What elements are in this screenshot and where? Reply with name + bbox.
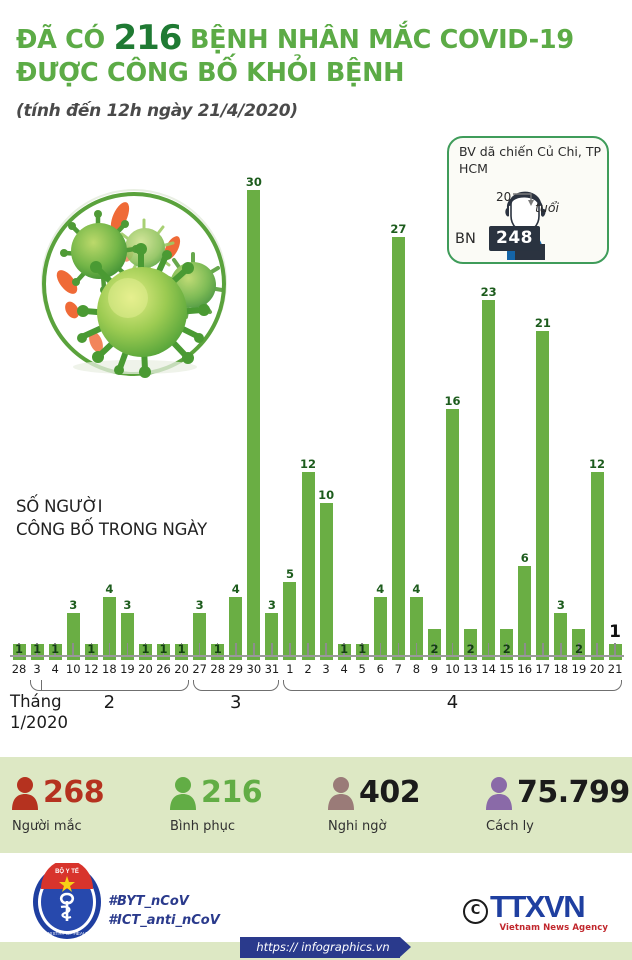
axis-day-label: 6 — [371, 662, 389, 676]
axis-day-label: 1 — [281, 662, 299, 676]
bar-value-label: 10 — [318, 490, 334, 502]
chart-bar-group: 1 — [353, 160, 371, 660]
axis-day-label: 21 — [606, 662, 624, 676]
bar-value-label: 12 — [589, 459, 605, 471]
axis-day-label: 18 — [100, 662, 118, 676]
chart-bar — [482, 300, 495, 660]
hashtag-ict: #ICT_anti_nCoV — [108, 912, 220, 931]
axis-day-label: 28 — [10, 662, 28, 676]
chart-bar-group: 3 — [191, 160, 209, 660]
bar-value-label: 2 — [467, 644, 475, 656]
chart-bar-group: 1 — [10, 160, 28, 660]
axis-day-label: 13 — [462, 662, 480, 676]
stats-band: 268Người mắc216Bình phục402Nghi ngờ75.79… — [0, 757, 632, 853]
bar-value-label: 1 — [178, 644, 186, 656]
axis-day-label: 26 — [155, 662, 173, 676]
axis-day-label: 5 — [353, 662, 371, 676]
axis-day-label: 3 — [28, 662, 46, 676]
axis-day-label: 20 — [173, 662, 191, 676]
daily-recoveries-chart: 1113143111314303512101142742162232621321… — [10, 160, 624, 660]
axis-day-label: 29 — [227, 662, 245, 676]
title-number: 216 — [113, 18, 181, 58]
axis-day-label: 15 — [498, 662, 516, 676]
chart-bar — [247, 190, 260, 660]
site-url: https:// infographics.vn — [248, 940, 398, 954]
bar-value-label: 2 — [503, 644, 511, 656]
axis-day-label: 28 — [209, 662, 227, 676]
axis-day-label: 4 — [46, 662, 64, 676]
chart-bar-group: 16 — [444, 160, 462, 660]
month-stem — [41, 680, 42, 691]
header: ĐÃ CÓ 216 BỆNH NHÂN MẮC COVID-19 ĐƯỢC CÔ… — [0, 0, 632, 121]
footer: BỘ Y TẾ MINISTRY OF HEALTH #BYT_nCoV #IC… — [0, 853, 632, 960]
chart-day-labels: 2834101218192026202728293031123456789101… — [10, 662, 624, 676]
hashtag-byt: #BYT_nCoV — [108, 893, 220, 912]
bar-value-label: 1 — [609, 624, 621, 641]
stat-item: 216Bình phục — [158, 776, 316, 834]
chart-bar — [446, 409, 459, 660]
axis-day-label: 20 — [588, 662, 606, 676]
bar-value-label: 5 — [286, 569, 294, 581]
bar-value-label: 1 — [141, 644, 149, 656]
logo-bottom-text: MINISTRY OF HEALTH — [43, 931, 92, 936]
bar-value-label: 23 — [481, 287, 497, 299]
month-bracket — [193, 680, 279, 691]
chart-bar-group: 21 — [534, 160, 552, 660]
bar-value-label: 3 — [557, 600, 565, 612]
bar-value-label: 4 — [232, 584, 240, 596]
axis-day-label: 4 — [335, 662, 353, 676]
chart-bar-group: 1 — [209, 160, 227, 660]
bar-value-label: 1 — [340, 644, 348, 656]
title-pre: ĐÃ CÓ — [16, 25, 113, 55]
bar-value-label: 30 — [246, 177, 262, 189]
chart-bar-group: 1 — [606, 160, 624, 660]
axis-day-label: 8 — [407, 662, 425, 676]
stat-value: 75.799 — [517, 778, 630, 808]
chart-bar-group: 1 — [155, 160, 173, 660]
chart-bar-group: 4 — [227, 160, 245, 660]
axis-day-label: 9 — [425, 662, 443, 676]
title-line-2: ĐƯỢC CÔNG BỐ KHỎI BỆNH — [16, 58, 616, 88]
person-icon — [168, 776, 198, 810]
stat-item: 268Người mắc — [0, 776, 158, 834]
title-post: BỆNH NHÂN MẮC COVID-19 — [181, 25, 573, 55]
chart-bar-group: 3 — [552, 160, 570, 660]
chart-bar-group: 4 — [371, 160, 389, 660]
bar-value-label: 3 — [268, 600, 276, 612]
month-bracket — [30, 680, 189, 691]
chart-bar — [536, 331, 549, 660]
axis-day-label: 20 — [136, 662, 154, 676]
stat-label: Người mắc — [10, 819, 158, 834]
page-subtitle: (tính đến 12h ngày 21/4/2020) — [16, 101, 616, 121]
logo-top-text: BỘ Y TẾ — [55, 867, 79, 875]
chart-bar-group: 5 — [281, 160, 299, 660]
chart-bar-group: 2 — [462, 160, 480, 660]
bar-value-label: 6 — [521, 553, 529, 565]
chart-bar-group: 4 — [407, 160, 425, 660]
chart-bar-group: 4 — [100, 160, 118, 660]
chart-bar-group: 3 — [118, 160, 136, 660]
axis-day-label: 10 — [444, 662, 462, 676]
stat-value: 402 — [359, 778, 420, 808]
bar-value-label: 4 — [376, 584, 384, 596]
chart-axis-line — [10, 655, 624, 657]
bar-value-label: 3 — [69, 600, 77, 612]
axis-day-label: 3 — [317, 662, 335, 676]
chart-bar — [302, 472, 315, 660]
stat-label: Bình phục — [168, 819, 316, 834]
axis-day-label: 18 — [552, 662, 570, 676]
bar-value-label: 12 — [300, 459, 316, 471]
chart-bar-group: 1 — [173, 160, 191, 660]
bar-value-label: 1 — [51, 644, 59, 656]
ministry-of-health-logo: BỘ Y TẾ MINISTRY OF HEALTH — [31, 863, 103, 941]
axis-day-label: 19 — [118, 662, 136, 676]
stat-value: 268 — [43, 778, 104, 808]
axis-day-label: 30 — [245, 662, 263, 676]
stat-value: 216 — [201, 778, 262, 808]
chart-bar-group: 2 — [498, 160, 516, 660]
agency-name: TTXVN — [490, 891, 608, 922]
chart-bar-group: 6 — [516, 160, 534, 660]
hashtags: #BYT_nCoV #ICT_anti_nCoV — [108, 893, 220, 931]
bar-value-label: 27 — [390, 224, 406, 236]
axis-day-label: 14 — [480, 662, 498, 676]
infographic-page: ĐÃ CÓ 216 BỆNH NHÂN MẮC COVID-19 ĐƯỢC CÔ… — [0, 0, 632, 960]
month-group: 4 — [283, 680, 622, 730]
chart-bar-group: 23 — [480, 160, 498, 660]
chart-bar — [591, 472, 604, 660]
chart-bar-group: 10 — [317, 160, 335, 660]
chart-bar-group: 1 — [46, 160, 64, 660]
copyright-icon: C — [463, 899, 488, 924]
bar-value-label: 3 — [196, 600, 204, 612]
person-icon — [326, 776, 356, 810]
month-group: 3 — [193, 680, 279, 730]
person-icon — [484, 776, 514, 810]
bar-value-label: 1 — [33, 644, 41, 656]
bar-value-label: 2 — [575, 644, 583, 656]
chart-month-groups: 234 — [10, 680, 624, 730]
person-icon — [10, 776, 40, 810]
chart-bar-group: 27 — [389, 160, 407, 660]
bar-value-label: 1 — [358, 644, 366, 656]
bar-value-label: 2 — [430, 644, 438, 656]
axis-day-label: 16 — [516, 662, 534, 676]
bar-value-label: 3 — [123, 600, 131, 612]
axis-day-label: 17 — [534, 662, 552, 676]
agency-subtitle: Vietnam News Agency — [490, 923, 608, 933]
chart-bars: 1113143111314303512101142742162232621321… — [10, 160, 624, 660]
bar-value-label: 21 — [535, 318, 551, 330]
chart-bar-group: 3 — [64, 160, 82, 660]
axis-day-label: 7 — [389, 662, 407, 676]
page-title: ĐÃ CÓ 216 BỆNH NHÂN MẮC COVID-19 ĐƯỢC CÔ… — [16, 18, 616, 88]
bar-value-label: 4 — [412, 584, 420, 596]
stat-label: Nghi ngờ — [326, 819, 474, 834]
stat-label: Cách ly — [484, 819, 632, 834]
stat-item: 75.799Cách ly — [474, 776, 632, 834]
bar-value-label: 1 — [87, 644, 95, 656]
axis-day-label: 31 — [263, 662, 281, 676]
bar-value-label: 1 — [214, 644, 222, 656]
chart-bar-group: 1 — [82, 160, 100, 660]
axis-day-label: 12 — [82, 662, 100, 676]
chart-bar-group: 12 — [588, 160, 606, 660]
chart-bar-group: 1 — [136, 160, 154, 660]
bar-value-label: 1 — [15, 644, 23, 656]
bar-value-label: 4 — [105, 584, 113, 596]
axis-day-label: 2 — [299, 662, 317, 676]
bar-value-label: 1 — [160, 644, 168, 656]
chart-bar-group: 1 — [28, 160, 46, 660]
axis-day-label: 27 — [191, 662, 209, 676]
chart-bar — [392, 237, 405, 660]
chart-bar-group: 30 — [245, 160, 263, 660]
chart-bar-group: 12 — [299, 160, 317, 660]
axis-day-label: 19 — [570, 662, 588, 676]
month-label: Tháng1/2020 — [10, 692, 68, 733]
axis-day-label: 10 — [64, 662, 82, 676]
chart-bar-group: 3 — [263, 160, 281, 660]
stat-item: 402Nghi ngờ — [316, 776, 474, 834]
ttxvn-logo: TTXVN Vietnam News Agency — [490, 891, 608, 935]
bar-value-label: 16 — [445, 396, 461, 408]
month-label: 4 — [283, 692, 622, 713]
chart-bar — [320, 503, 333, 660]
month-bracket — [283, 680, 622, 691]
chart-bar-group: 1 — [335, 160, 353, 660]
chart-bar-group: 2 — [425, 160, 443, 660]
month-label: 3 — [193, 692, 279, 713]
chart-bar-group: 2 — [570, 160, 588, 660]
